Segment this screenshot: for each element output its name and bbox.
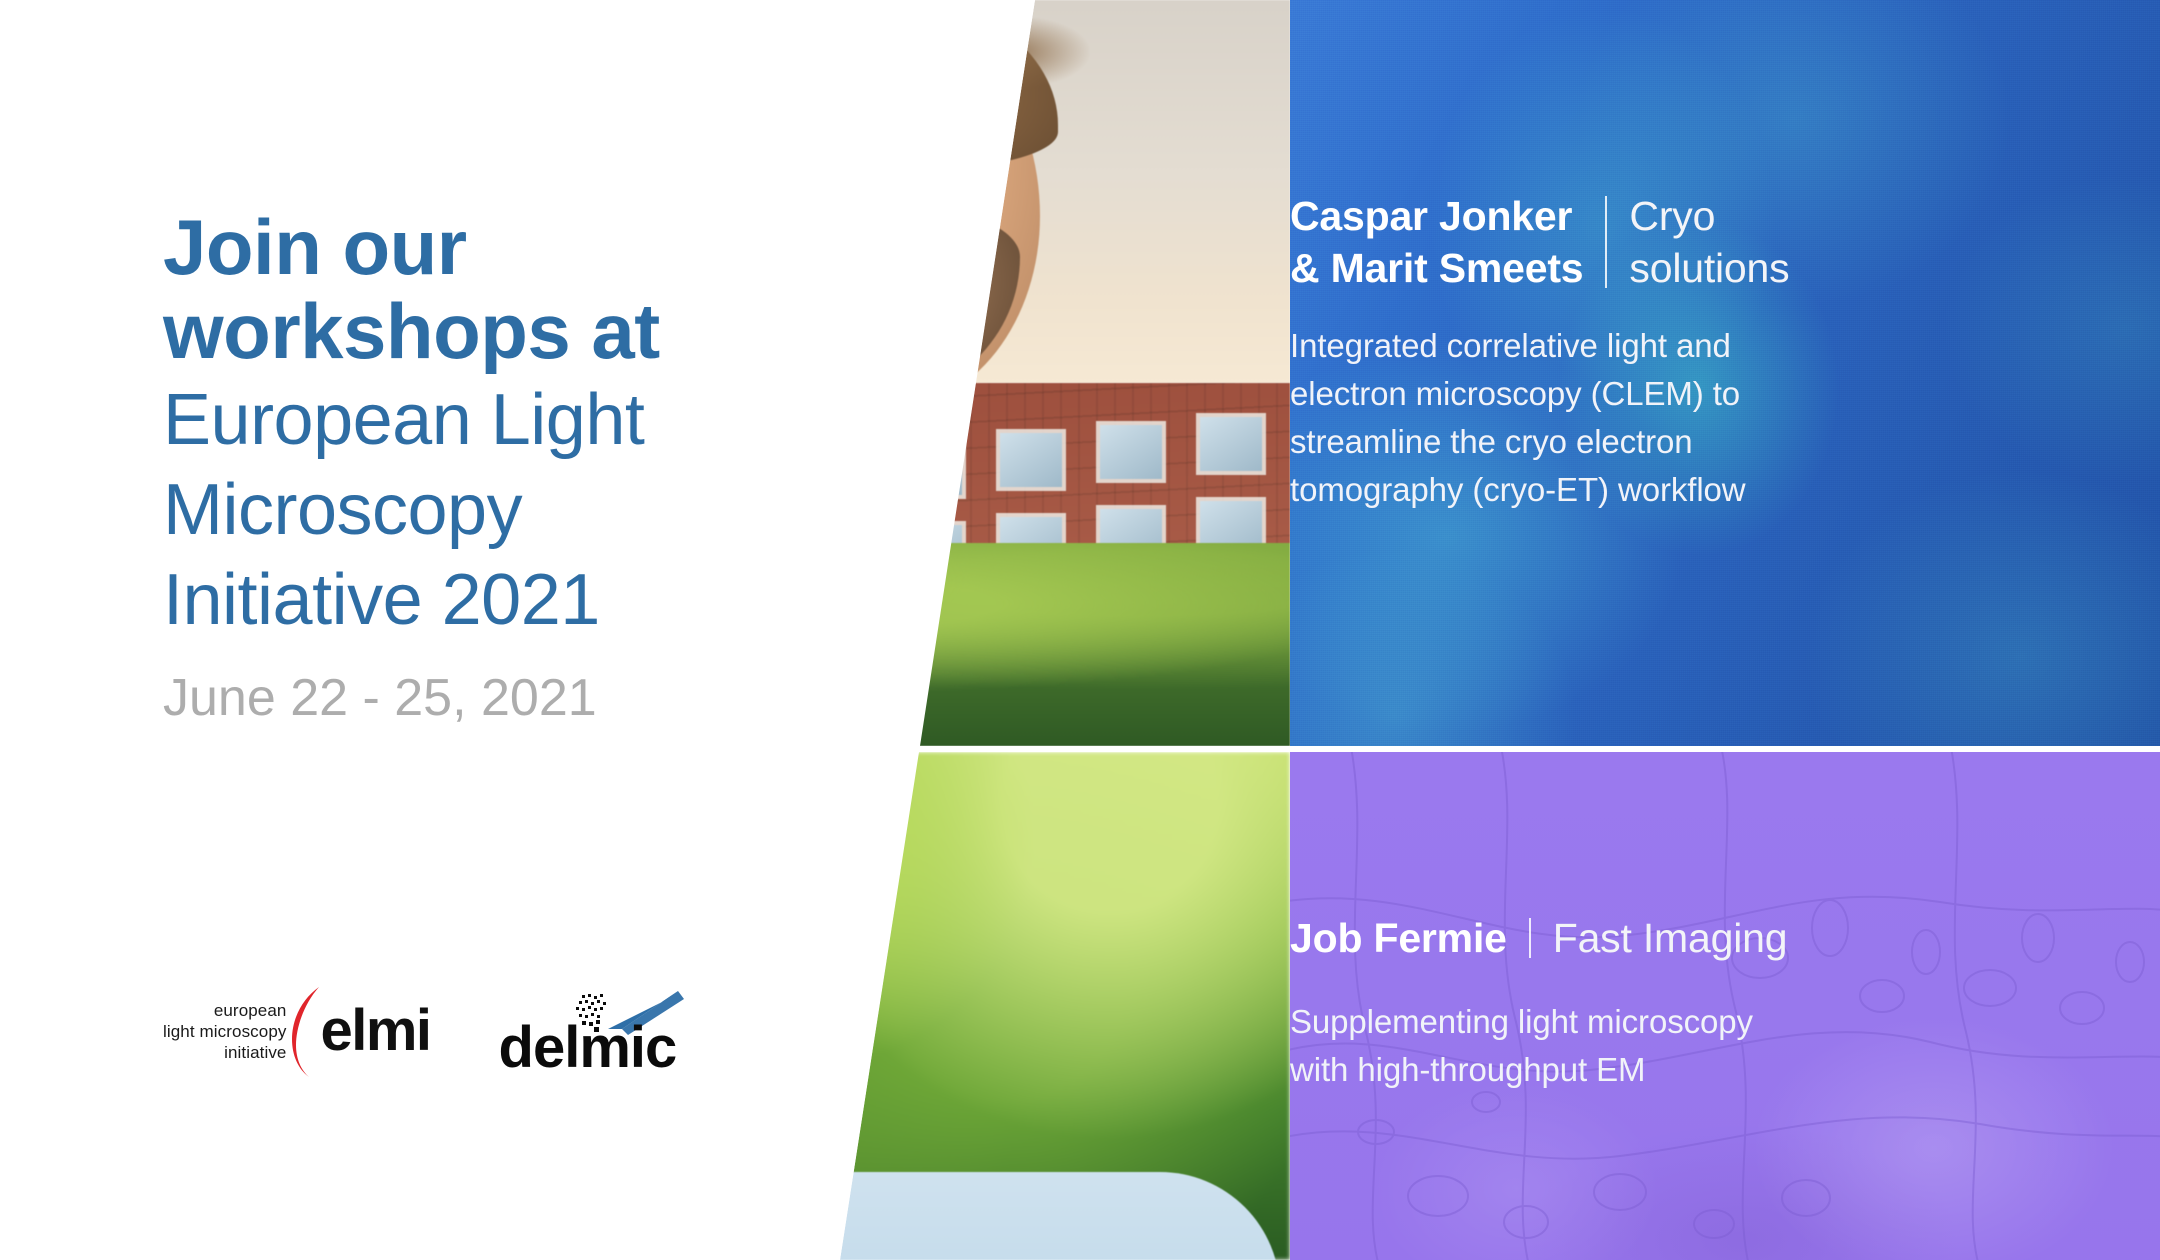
headline-light-line-1: European Light xyxy=(163,373,803,463)
elmi-wordmark: elmi xyxy=(320,1002,430,1060)
speaker-headline-row: Caspar Jonker & Marit Smeets Cryo soluti… xyxy=(1290,190,2030,294)
red-parenthesis-swoosh-icon xyxy=(292,985,322,1077)
speaker-names: Caspar Jonker & Marit Smeets xyxy=(1290,190,1605,294)
headline-bold-line-2: workshops at xyxy=(163,289,803,373)
session-topic: Cryo solutions xyxy=(1607,190,1789,294)
session-text-fast-imaging: Job Fermie Fast Imaging Supplementing li… xyxy=(1290,912,2030,1094)
headline-bold-line-1: Join our xyxy=(163,205,803,289)
elmi-logo[interactable]: european light microscopy initiative elm… xyxy=(163,985,431,1077)
promo-poster: Caspar Jonker & Marit Smeets Cryo soluti… xyxy=(0,0,2160,1260)
session-text-cryo-solutions: Caspar Jonker & Marit Smeets Cryo soluti… xyxy=(1290,190,2030,514)
logo-row: european light microscopy initiative elm… xyxy=(163,985,676,1077)
portrait-window xyxy=(1100,425,1162,479)
elmi-tagline: european light microscopy initiative xyxy=(163,1000,292,1063)
page-title: Join our workshops at European Light Mic… xyxy=(163,205,803,729)
session-topic: Fast Imaging xyxy=(1531,912,1788,964)
headline-light-line-2: Microscopy xyxy=(163,463,803,553)
speaker-names: Job Fermie xyxy=(1290,912,1529,964)
session-description: Integrated correlative light and electro… xyxy=(1290,322,2030,514)
elmi-tagline-line-3: initiative xyxy=(163,1042,286,1063)
event-dates: June 22 - 25, 2021 xyxy=(163,643,803,729)
portrait-window xyxy=(1200,417,1262,471)
portrait-window xyxy=(1000,433,1062,487)
elmi-tagline-line-1: european xyxy=(163,1000,286,1021)
headline-light-line-3: Initiative 2021 xyxy=(163,553,803,643)
delmic-logo[interactable]: delmic xyxy=(499,985,677,1077)
delmic-wordmark: delmic xyxy=(499,1019,677,1077)
speaker-headline-row: Job Fermie Fast Imaging xyxy=(1290,912,2030,964)
elmi-tagline-line-2: light microscopy xyxy=(163,1021,286,1042)
session-description: Supplementing light microscopy with high… xyxy=(1290,998,2030,1094)
